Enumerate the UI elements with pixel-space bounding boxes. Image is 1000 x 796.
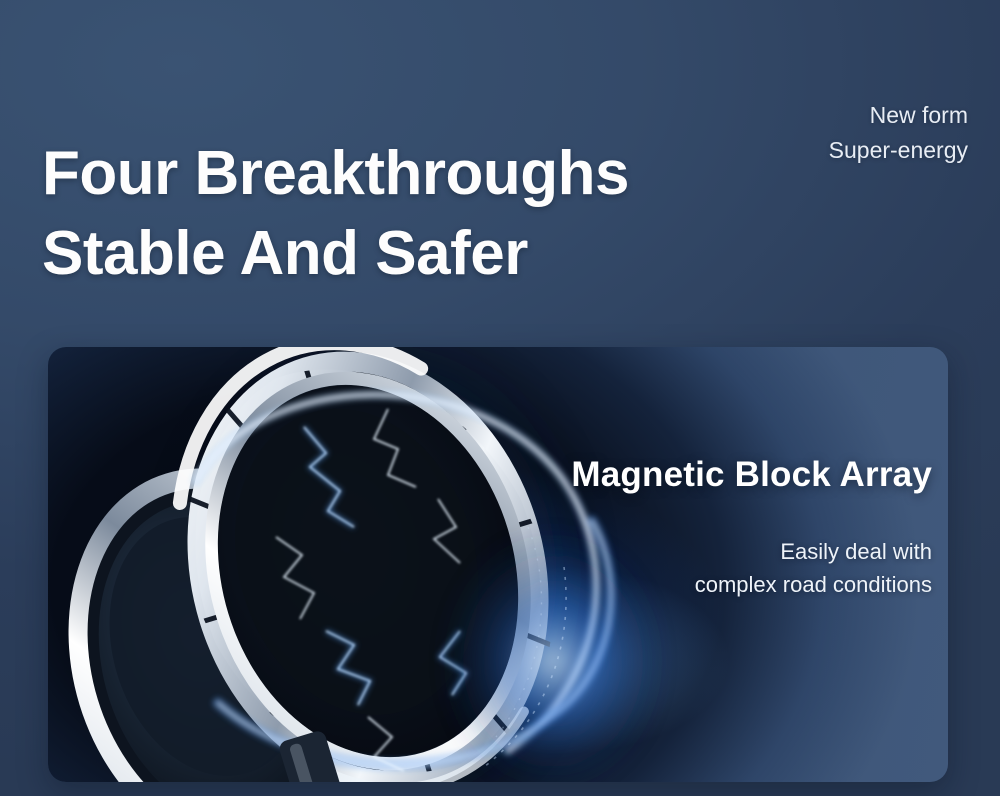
promo-banner: Four Breakthroughs Stable And Safer New … (0, 0, 1000, 796)
card-title: Magnetic Block Array (412, 455, 932, 495)
card-subtitle: Easily deal with complex road conditions (412, 535, 932, 601)
page-title: Four Breakthroughs Stable And Safer (42, 134, 742, 294)
hero-tagline: New form Super-energy (708, 98, 968, 168)
feature-card: Magnetic Block Array Easily deal with co… (48, 347, 948, 782)
